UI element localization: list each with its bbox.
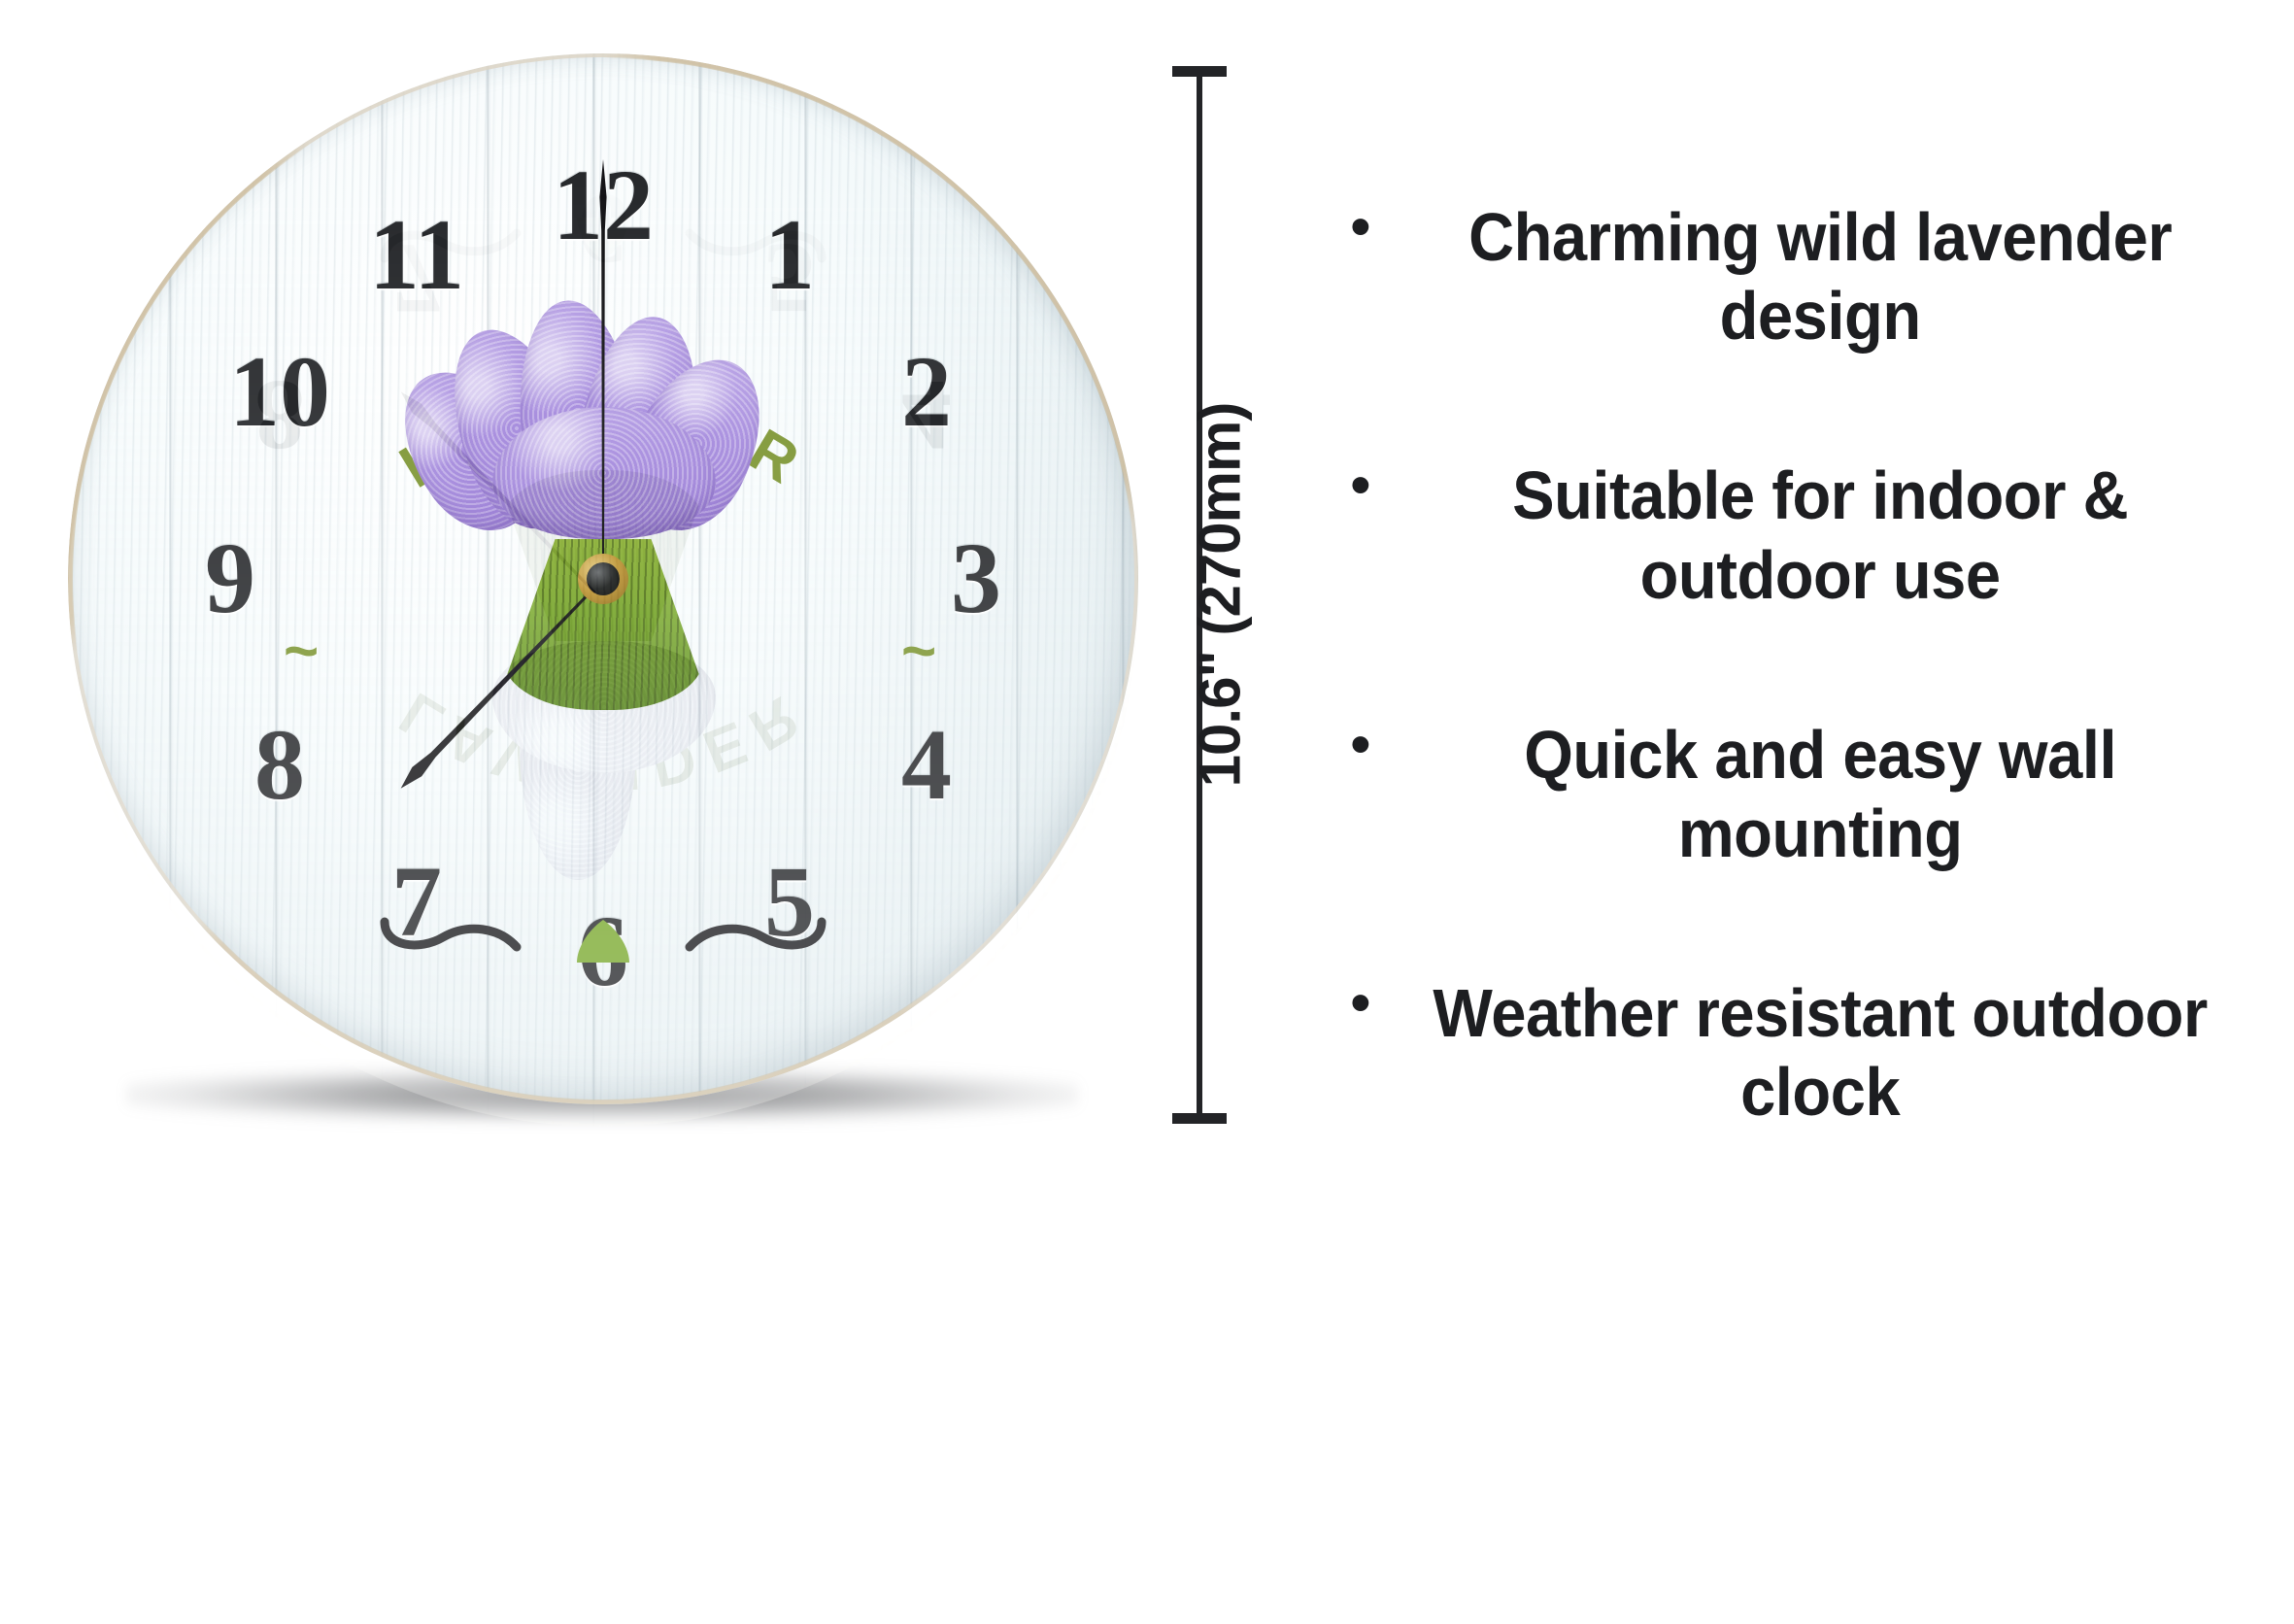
bullet-icon: • bbox=[1350, 198, 1371, 256]
dimension-label: 10.6" (270mm) bbox=[1187, 158, 1254, 1032]
lavender-swash-left: ~ bbox=[284, 618, 327, 685]
lavender-swash-right: ~ bbox=[901, 618, 945, 685]
feature-text: Charming wild lavender design bbox=[1417, 198, 2223, 355]
feature-text: Quick and easy wall mounting bbox=[1417, 716, 2223, 873]
feature-item: • Quick and easy wall mounting bbox=[1350, 716, 2253, 873]
bullet-icon: • bbox=[1350, 974, 1371, 1032]
feature-text: Suitable for indoor & outdoor use bbox=[1417, 457, 2223, 614]
clock-stage: LAVENDER ~ ~ 12 1 2 3 4 5 6 bbox=[68, 53, 1138, 1104]
bullet-icon: • bbox=[1350, 716, 1371, 774]
dimension-cap-bottom bbox=[1172, 1113, 1227, 1124]
bullet-icon: • bbox=[1350, 457, 1371, 515]
decorative-flourish bbox=[375, 902, 831, 980]
feature-text: Weather resistant outdoor clock bbox=[1417, 974, 2223, 1132]
feature-item: • Suitable for indoor & outdoor use bbox=[1350, 457, 2253, 614]
feature-item: • Charming wild lavender design bbox=[1350, 198, 2253, 355]
feature-item: • Weather resistant outdoor clock bbox=[1350, 974, 2253, 1132]
feature-list: • Charming wild lavender design • Suitab… bbox=[1350, 146, 2253, 1234]
height-dimension-annotation: 10.6" (270mm) bbox=[1152, 58, 1327, 1136]
flourish-leaf bbox=[577, 920, 629, 963]
product-figure: LAVENDER ~ ~ 12 1 2 3 4 5 6 bbox=[0, 0, 1165, 1624]
clock-hub-cap bbox=[587, 562, 620, 595]
clock-face: LAVENDER ~ ~ 12 1 2 3 4 5 6 bbox=[68, 53, 1138, 1104]
